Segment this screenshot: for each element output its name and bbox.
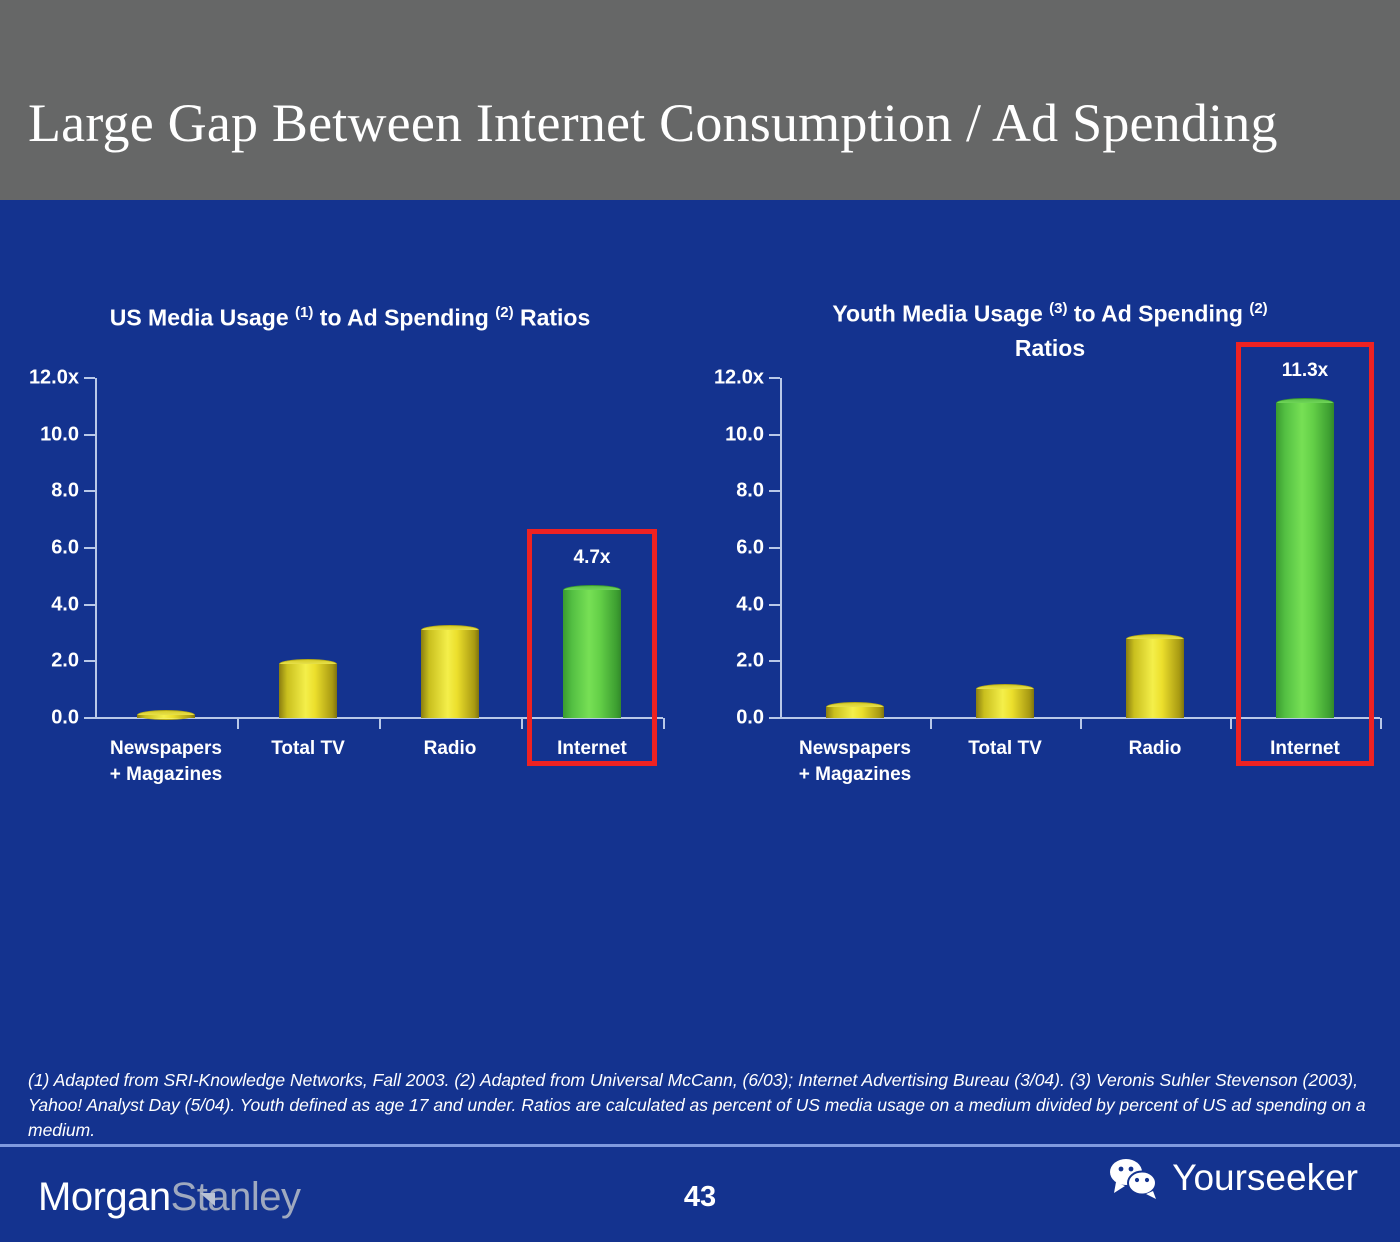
y-axis-tick	[769, 434, 780, 436]
chart-title-lead: US Media Usage	[110, 305, 289, 331]
yourseeker-label: Yourseeker	[1172, 1157, 1358, 1199]
x-axis-tick	[930, 718, 932, 729]
bar-slot	[780, 378, 930, 718]
y-axis-tick	[84, 717, 95, 719]
highlight-box-internet	[1236, 342, 1374, 766]
y-axis-tick-label: 8.0	[736, 480, 764, 503]
yourseeker-watermark: Yourseeker	[1108, 1157, 1358, 1199]
plot-area-youth-media: 0.02.04.06.08.010.012.0xNewspapers+ Maga…	[780, 378, 1380, 718]
y-axis-tick-label: 6.0	[51, 537, 79, 560]
slide-header: Large Gap Between Internet Consumption /…	[0, 0, 1400, 200]
y-axis-tick	[84, 660, 95, 662]
x-axis-tick	[379, 718, 381, 729]
bar-slot	[379, 378, 521, 718]
bar-total-tv[interactable]	[279, 659, 337, 719]
bar-radio[interactable]	[1126, 634, 1184, 718]
y-axis-tick	[769, 604, 780, 606]
x-axis-category-label: Newspapers+ Magazines	[95, 736, 237, 788]
bar-slot	[930, 378, 1080, 718]
y-axis-tick-label: 12.0x	[714, 367, 764, 390]
bar-body	[279, 664, 337, 719]
y-axis-tick-label: 6.0	[736, 537, 764, 560]
chart-title-tail: Ratios	[520, 305, 590, 331]
y-axis-tick	[769, 377, 780, 379]
y-axis-tick	[769, 717, 780, 719]
x-axis-category-label: Total TV	[930, 736, 1080, 762]
category-label-line: Total TV	[930, 736, 1080, 762]
y-axis-tick-label: 2.0	[736, 650, 764, 673]
x-axis-tick	[1080, 718, 1082, 729]
y-axis-tick	[84, 434, 95, 436]
bar-newspapers-magazines[interactable]	[137, 710, 195, 719]
chart-panel-us-media: US Media Usage (1) to Ad Spending (2) Ra…	[0, 200, 700, 820]
footnote-text: (1) Adapted from SRI-Knowledge Networks,…	[28, 1068, 1378, 1143]
y-axis-tick	[84, 547, 95, 549]
x-axis-category-label: Newspapers+ Magazines	[780, 736, 930, 788]
highlight-box-internet	[527, 529, 657, 766]
y-axis-tick-label: 10.0	[725, 423, 764, 446]
x-axis-category-label: Total TV	[237, 736, 379, 762]
bar-slot	[237, 378, 379, 718]
chart-title-us-media: US Media Usage (1) to Ad Spending (2) Ra…	[0, 296, 700, 335]
y-axis-tick	[769, 547, 780, 549]
bar-body	[976, 689, 1034, 718]
x-axis-category-label: Radio	[379, 736, 521, 762]
plot-area-us-media: 0.02.04.06.08.010.012.0xNewspapers+ Maga…	[95, 378, 663, 718]
y-axis-tick-label: 8.0	[51, 480, 79, 503]
chart-title-mid: to Ad Spending	[320, 305, 489, 331]
bar-body	[1126, 639, 1184, 718]
category-label-line: + Magazines	[95, 762, 237, 788]
y-axis-tick-label: 0.0	[51, 707, 79, 730]
y-axis-tick	[84, 377, 95, 379]
bar-body	[137, 715, 195, 719]
y-axis-tick-label: 4.0	[736, 593, 764, 616]
category-label-line: Radio	[379, 736, 521, 762]
bar-slot	[95, 378, 237, 718]
bar-total-tv[interactable]	[976, 684, 1034, 718]
chart-title-tail: Ratios	[1015, 335, 1085, 361]
x-axis-tick	[521, 718, 523, 729]
y-axis-tick	[769, 660, 780, 662]
chart-title-mid: to Ad Spending	[1074, 301, 1243, 327]
x-axis-category-label: Radio	[1080, 736, 1230, 762]
page-title: Large Gap Between Internet Consumption /…	[28, 92, 1278, 154]
x-axis-tick	[1380, 718, 1382, 729]
y-axis-tick-label: 0.0	[736, 707, 764, 730]
chart-title-footnote-ref-2: (2)	[495, 304, 513, 321]
x-axis-tick	[237, 718, 239, 729]
category-label-line: Newspapers	[95, 736, 237, 762]
category-label-line: + Magazines	[780, 762, 930, 788]
bar-newspapers-magazines[interactable]	[826, 702, 884, 718]
y-axis-tick	[769, 490, 780, 492]
y-axis-tick-label: 12.0x	[29, 367, 79, 390]
chart-title-footnote-ref-3: (3)	[1049, 300, 1067, 317]
y-axis-tick-label: 2.0	[51, 650, 79, 673]
bar-body	[421, 630, 479, 719]
y-axis-tick	[84, 490, 95, 492]
category-label-line: Newspapers	[780, 736, 930, 762]
chart-title-footnote-ref-2: (2)	[1249, 300, 1267, 317]
slide-body: US Media Usage (1) to Ad Spending (2) Ra…	[0, 200, 1400, 1042]
bar-slot	[1080, 378, 1230, 718]
chart-title-footnote-ref-1: (1)	[295, 304, 313, 321]
y-axis-tick	[84, 604, 95, 606]
chart-title-lead: Youth Media Usage	[832, 301, 1042, 327]
y-axis-tick-label: 4.0	[51, 593, 79, 616]
chart-panel-youth-media: Youth Media Usage (3) to Ad Spending (2)…	[700, 200, 1400, 820]
category-label-line: Total TV	[237, 736, 379, 762]
wechat-icon	[1108, 1157, 1160, 1199]
bar-body	[826, 707, 884, 718]
y-axis-tick-label: 10.0	[40, 423, 79, 446]
x-axis-tick	[1230, 718, 1232, 729]
bar-radio[interactable]	[421, 625, 479, 719]
x-axis-tick	[663, 718, 665, 729]
slide-footer: MorganStanley 43 Yourseeker	[0, 1147, 1400, 1242]
category-label-line: Radio	[1080, 736, 1230, 762]
